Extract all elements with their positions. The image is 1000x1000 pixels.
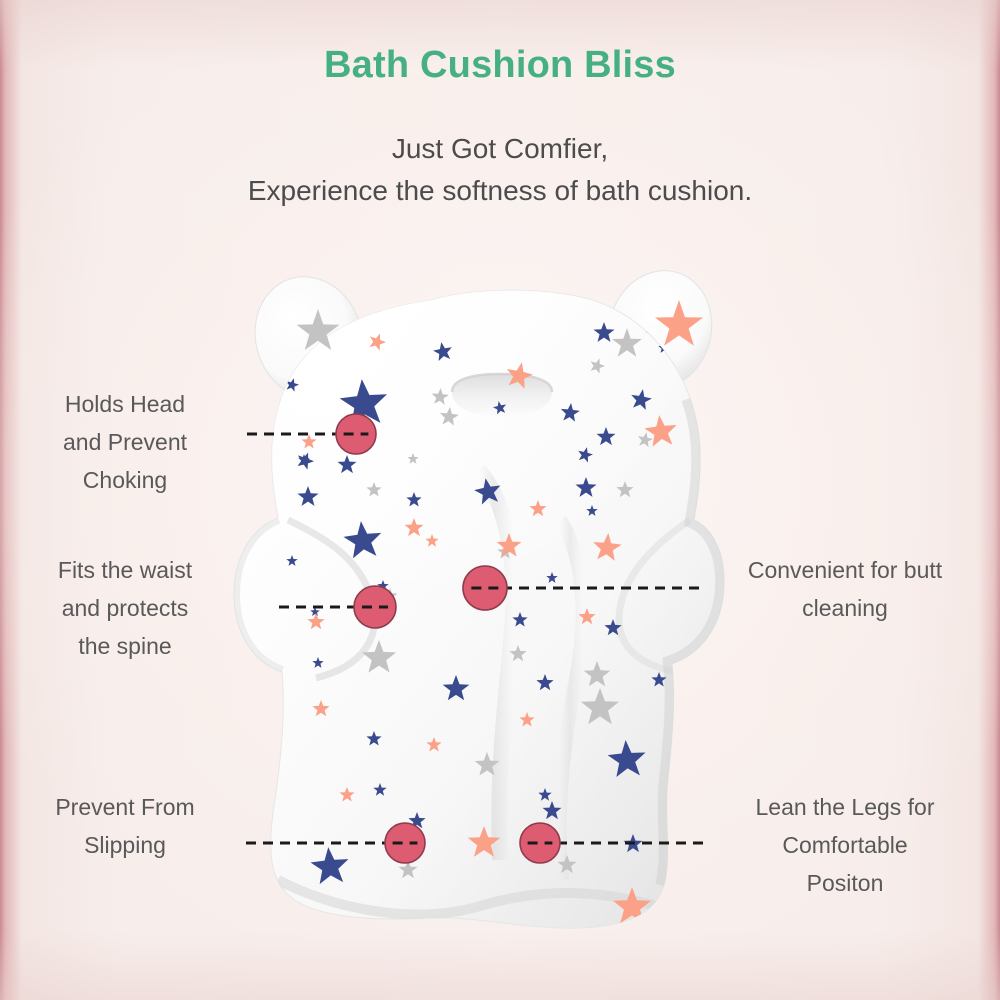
- marker-dot-butt-cleaning: [463, 566, 507, 610]
- callout-line: and protects: [10, 589, 240, 627]
- callout-line: Fits the waist: [10, 551, 240, 589]
- callout-line: Prevent From: [10, 788, 240, 826]
- callout-line: Positon: [705, 864, 985, 902]
- callout-line: Choking: [10, 461, 240, 499]
- marker-dot-fits-waist: [354, 586, 396, 628]
- callout-label-prevent-slipping: Prevent From Slipping: [10, 788, 240, 864]
- marker-dot-holds-head: [336, 414, 376, 454]
- marker-dot-lean-legs: [520, 823, 560, 863]
- product-infographic: Bath Cushion Bliss Just Got Comfier, Exp…: [0, 0, 1000, 1000]
- callout-label-holds-head: Holds Head and Prevent Choking: [10, 385, 240, 499]
- callout-label-butt-cleaning: Convenient for butt cleaning: [705, 551, 985, 627]
- callout-label-fits-waist: Fits the waist and protects the spine: [10, 551, 240, 665]
- marker-dot-prevent-slipping: [385, 823, 425, 863]
- callout-line: Comfortable: [705, 826, 985, 864]
- callout-line: and Prevent: [10, 423, 240, 461]
- callout-line: Convenient for butt: [705, 551, 985, 589]
- callout-line: cleaning: [705, 589, 985, 627]
- callout-line: Holds Head: [10, 385, 240, 423]
- callout-line: the spine: [10, 627, 240, 665]
- callout-line: Lean the Legs for: [705, 788, 985, 826]
- callout-line: Slipping: [10, 826, 240, 864]
- callout-label-lean-legs: Lean the Legs for Comfortable Positon: [705, 788, 985, 902]
